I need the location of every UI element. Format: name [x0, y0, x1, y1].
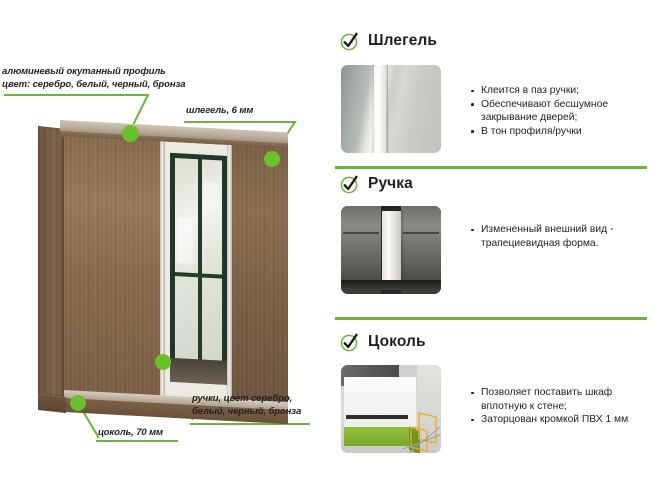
check-circle-icon: [340, 332, 360, 352]
shlegel-seam: [387, 65, 389, 153]
callout-plinth-line1: цоколь, 70 мм: [98, 427, 163, 440]
section-plinth-title: Цоколь: [368, 333, 426, 351]
wardrobe-door-right: [231, 145, 288, 406]
callout-shlegel-text: шлегель, 6 мм: [186, 105, 253, 118]
shlegel-brush-strip: [374, 65, 386, 153]
section-plinth-header: Цоколь: [340, 332, 426, 352]
wardrobe-foot: [38, 394, 66, 413]
handle-photo-edge-line-right: [403, 232, 439, 234]
check-circle-icon: [340, 31, 360, 51]
handle-photo-image: [341, 206, 441, 294]
handle-photo-edge-line-left: [343, 232, 379, 234]
mirror-frame-border: [170, 153, 227, 385]
section-shlegel-title: Шлегель: [368, 32, 437, 50]
shlegel-bullet-list: Клеится в паз ручки; Обеспечивают бесшум…: [470, 84, 646, 138]
list-item: Заторцован кромкой ПВХ 1 мм: [470, 413, 652, 427]
callout-handles-line2: белый, черный, бронза: [192, 406, 301, 419]
divider-1: [335, 166, 647, 169]
marker-dot-profile: [122, 125, 139, 142]
callout-profile-line1: алюминевый окутанный профиль: [2, 66, 185, 79]
features-panel: Шлегель Клеится в паз ручки; Обеспечиваю…: [330, 0, 652, 500]
plinth-photo-annotation: [341, 365, 441, 453]
list-item: Клеится в паз ручки;: [470, 84, 646, 98]
callout-profile-line2: цвет: серебро, белый, черный, бронза: [2, 79, 185, 92]
divider-2: [335, 317, 647, 320]
mirror-floor-reflection: [170, 358, 227, 385]
shlegel-photo: [341, 65, 441, 153]
wardrobe-mirror-door: [165, 141, 231, 403]
handle-photo: [341, 206, 441, 294]
callout-handles-text: ручки, цвет серебро, белый, черный, брон…: [192, 393, 301, 418]
handle-photo-handle-profile: [382, 211, 401, 288]
list-item: Измененный внешний вид - трапециевидная …: [470, 223, 646, 250]
wardrobe-panel: алюминевый окутанный профиль цвет: сереб…: [0, 0, 330, 500]
list-item: В тон профиля/ручки: [470, 125, 646, 139]
infographic-root: алюминевый окутанный профиль цвет: сереб…: [0, 0, 652, 500]
callout-profile-text: алюминевый окутанный профиль цвет: сереб…: [2, 66, 185, 91]
shlegel-photo-image: [341, 65, 441, 153]
wardrobe-door-left: [64, 136, 160, 399]
plinth-photo-image: [341, 365, 441, 453]
check-circle-icon: [340, 174, 360, 194]
mirror-glass: [170, 153, 227, 385]
list-item: Обеспечивают бесшумное закрывание дверей…: [470, 98, 646, 125]
plinth-photo: [341, 365, 441, 453]
marker-dot-handles: [155, 354, 171, 370]
section-shlegel-header: Шлегель: [340, 31, 437, 51]
marker-dot-plinth: [70, 395, 86, 411]
wardrobe-handle-right: [227, 145, 232, 403]
section-handle-header: Ручка: [340, 174, 413, 194]
callout-handles-line1: ручки, цвет серебро,: [192, 393, 301, 406]
marker-dot-shlegel: [264, 151, 280, 167]
plinth-bullet-list: Позволяет поставить шкаф вплотную к стен…: [470, 386, 652, 427]
section-handle-title: Ручка: [368, 175, 413, 193]
handle-photo-rail: [341, 280, 441, 291]
callout-shlegel-line1: шлегель, 6 мм: [186, 105, 253, 118]
callout-plinth-text: цоколь, 70 мм: [98, 427, 163, 440]
handle-bullet-list: Измененный внешний вид - трапециевидная …: [470, 223, 646, 250]
wardrobe-left-side-panel: [38, 126, 66, 397]
wardrobe-doors: [64, 136, 288, 406]
list-item: Позволяет поставить шкаф вплотную к стен…: [470, 386, 652, 413]
